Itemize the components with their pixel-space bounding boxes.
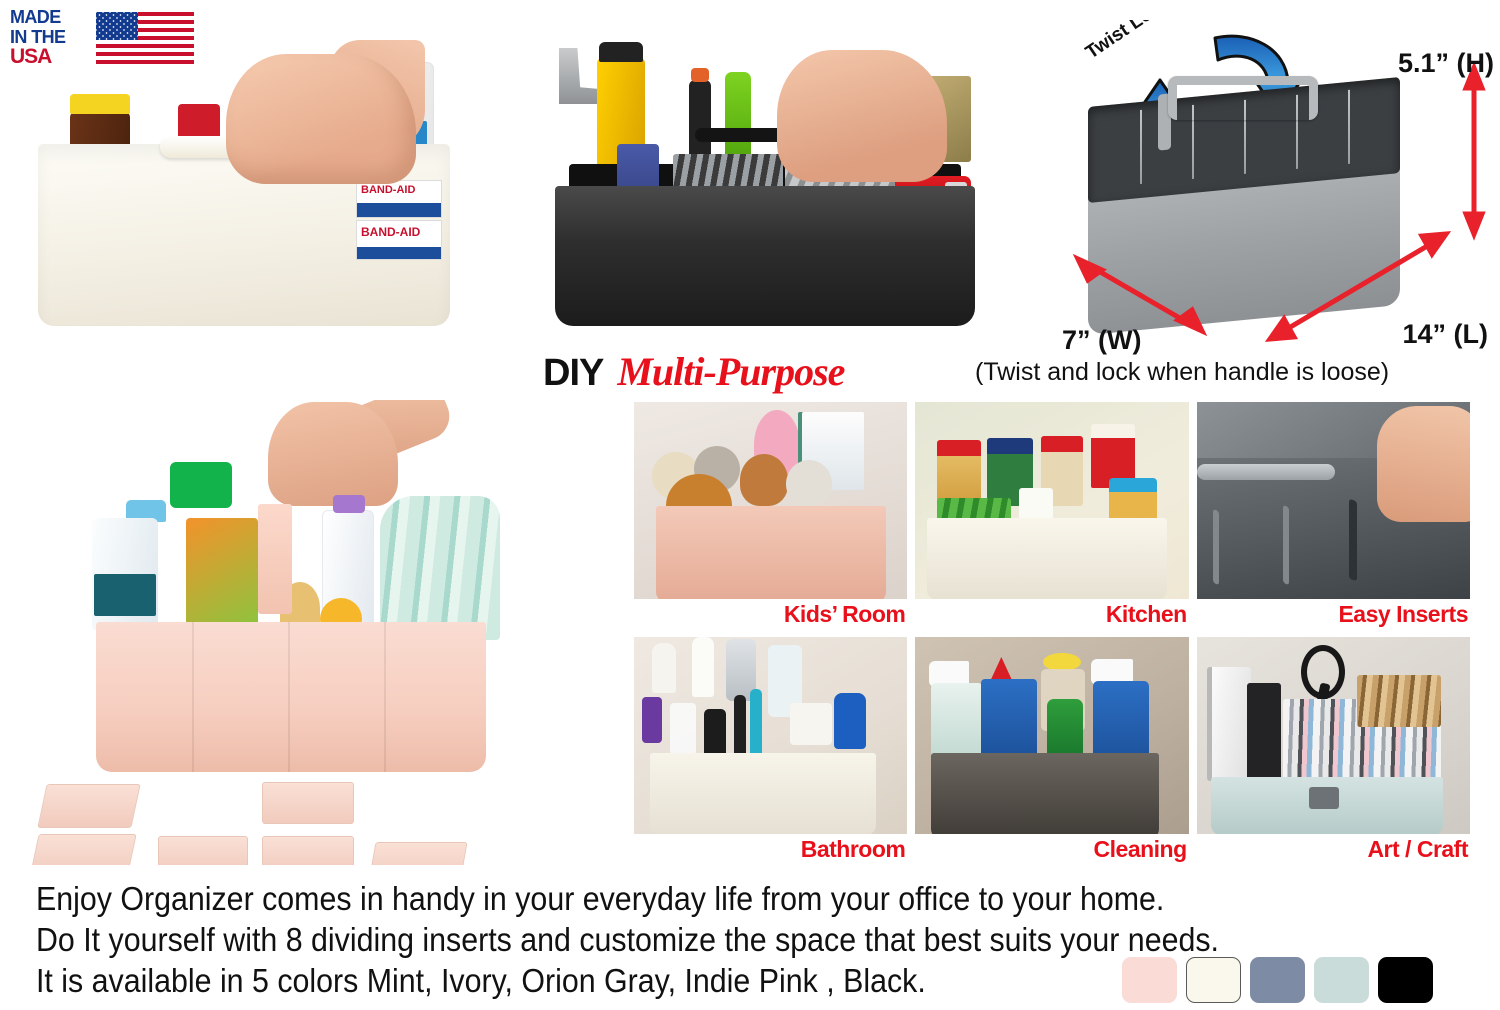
scene-kitchen [915,402,1188,629]
color-swatch-row [1122,957,1433,1003]
caption-bar: Kitchen [915,599,1188,629]
caddy-bathroom [650,753,876,835]
pink-caddy-body [96,622,486,772]
caddy-handle [1197,464,1335,480]
colored-pencils [1357,675,1441,727]
divider-insert [1213,509,1219,585]
black-caddy-body [555,186,975,326]
use-case-label: Cleaning [1094,836,1189,863]
bandaid-box-top: BAND-AID [356,180,442,218]
use-case-cell-kitchen[interactable]: Kitchen [915,402,1188,629]
dimension-diagram: Twist Lock [1060,20,1500,360]
color-swatch-mint[interactable] [1314,957,1369,1003]
dimension-height-label: 5.1” (H) [1398,48,1494,79]
headline: DIY Multi-Purpose [543,348,844,392]
headline-multi-purpose: Multi-Purpose [617,348,844,395]
color-swatch-orion-gray[interactable] [1250,957,1305,1003]
hand-gripping-handle [777,50,947,182]
photo-black-tool-caddy [545,36,995,336]
toiletry-bottle [692,637,714,697]
list-item [158,836,248,865]
description-line-1: Enjoy Organizer comes in handy in your e… [36,878,1324,919]
caption-bar: Bathroom [634,834,907,864]
headline-diy: DIY [543,352,603,395]
photo-ivory-medicine-caddy: BAND-AID BAND-AID [30,40,470,340]
list-item [368,842,467,865]
caddy-kitchen [927,518,1167,600]
canister-lid [1091,424,1135,438]
color-swatch-black[interactable] [1378,957,1433,1003]
purple-bottle [642,697,662,743]
flashlight-head [599,42,643,62]
scene-bathroom [634,637,907,864]
toiletry-bottle [652,643,676,693]
use-case-cell-kids-room[interactable]: Kids’ Room [634,402,907,629]
divider-insert [1283,505,1289,585]
twist-lock-note: (Twist and lock when handle is loose) [975,358,1389,387]
use-case-cell-art-craft[interactable]: Art / Craft [1197,637,1470,864]
use-case-cell-cleaning[interactable]: Cleaning [915,637,1188,864]
list-item [262,782,354,824]
soap-dispenser [834,693,866,749]
use-case-label: Art / Craft [1367,836,1470,863]
scene-easy-inserts [1197,402,1470,629]
baby-powder-bottle [92,518,158,630]
jar-lid [987,438,1033,454]
cream-jar [790,703,832,745]
jar-lid [1041,436,1083,452]
use-case-label: Kids’ Room [784,601,908,628]
caption-bar: Cleaning [915,834,1188,864]
flag-canton [96,12,138,40]
use-case-cell-bathroom[interactable]: Bathroom [634,637,907,864]
notebook [1247,683,1281,785]
spray-bottle [670,703,696,755]
scene-art-craft [1197,637,1470,864]
caddy-kids-room [656,506,886,602]
dimension-width-label: 7” (W) [1062,325,1141,356]
diaper-stack [380,496,500,640]
hand-gripping-handle [226,54,416,184]
vitamin-bottle-cap [70,94,130,114]
screwdriver-green [725,72,751,166]
plush-toy [740,454,788,506]
green-cap-bottle [170,462,232,508]
use-case-label: Easy Inserts [1338,601,1470,628]
caption-bar: Kids’ Room [634,599,907,629]
sketchbook [1207,667,1251,781]
plush-toy [786,460,832,508]
hand-placing-insert [1377,406,1470,522]
jar-lid [1109,478,1157,492]
use-case-label: Kitchen [1106,601,1189,628]
use-case-cell-easy-inserts[interactable]: Easy Inserts [1197,402,1470,629]
badge-line-1: MADE [10,8,96,28]
use-case-grid: Kids’ Room Kitchen [634,402,1470,864]
caddy-handle-latch [1309,787,1339,809]
baby-powder-label [94,574,156,616]
list-item [37,784,140,828]
caption-bar: Easy Inserts [1197,599,1470,629]
scene-kids-room [634,402,907,629]
list-item [30,834,137,865]
color-swatch-ivory[interactable] [1186,957,1241,1003]
color-swatch-indie-pink[interactable] [1122,957,1177,1003]
divider-insert-held [1349,499,1357,582]
description-line-2: Do It yourself with 8 dividing inserts a… [36,919,1324,960]
use-case-label: Bathroom [801,836,908,863]
screwdriver-orange [689,80,711,162]
caddy-cleaning [931,753,1159,839]
caption-bar: Art / Craft [1197,834,1470,864]
hand-placing-insert [268,402,398,506]
bandaid-box-bottom: BAND-AID [356,220,442,260]
scene-cleaning [915,637,1188,864]
dimension-length-label: 14” (L) [1402,319,1488,350]
divider-insert-held [258,504,292,614]
wipes-pouch [186,518,258,630]
photo-pink-baby-caddy [30,400,590,865]
bottle-cap [333,495,365,513]
list-item [262,836,354,865]
jar-lid [937,440,981,456]
